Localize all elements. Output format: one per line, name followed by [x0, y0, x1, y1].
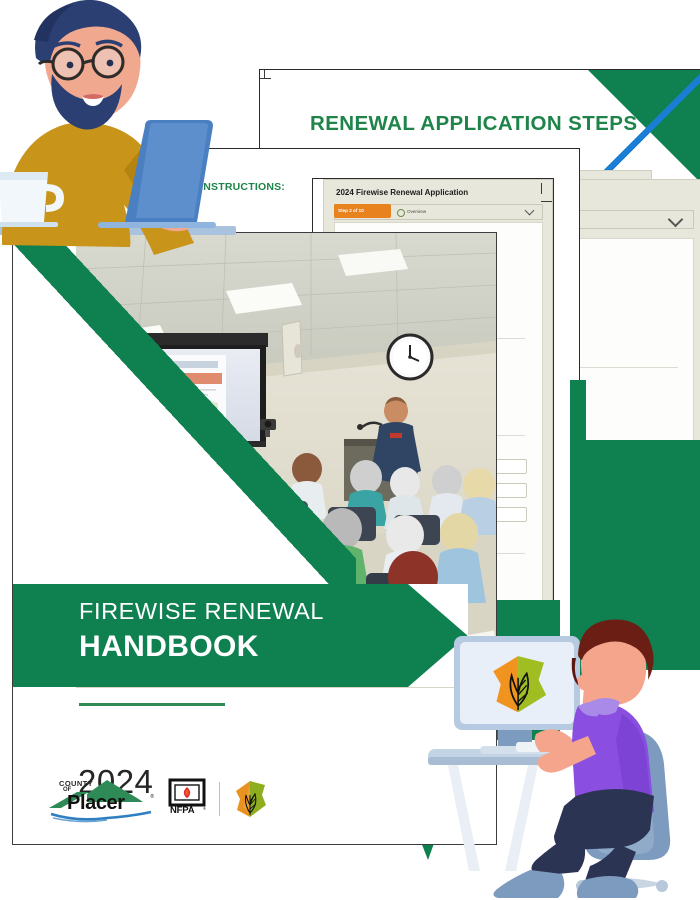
check-circle-icon [397, 209, 405, 217]
handbook-cover-page: 2024 FIREWISE RENEWAL HANDBOOK COUNTY OF [12, 232, 497, 845]
firewise-leaf-logo [234, 779, 268, 819]
registered-mark: ® [203, 806, 206, 811]
form-title: 2024 Firewise Renewal Application [336, 188, 468, 197]
step-badge-label: Step 2 of 10 [338, 208, 364, 213]
chevron-down-icon [525, 206, 535, 216]
cover-logo-row: COUNTY OF Placer ® NFPA ® [47, 778, 268, 820]
page-title: RENEWAL APPLICATION STEPS [310, 112, 637, 136]
cover-title: HANDBOOK [79, 630, 259, 664]
county-of-placer-logo: COUNTY OF Placer ® [47, 778, 155, 820]
registered-mark: ® [150, 794, 154, 800]
logo-divider [219, 782, 220, 816]
man-at-laptop-illustration [0, 0, 290, 250]
screenshot-canvas: RENEWAL APPLICATION STEPS 2024 Firewise … [0, 0, 700, 900]
step-badge: Step 2 of 10 [334, 204, 391, 218]
cover-green-diagonal [12, 232, 356, 603]
cover-divider-rule [79, 703, 225, 706]
step-selector[interactable]: Step 2 of 10 Overview [334, 204, 543, 220]
nfpa-logo: NFPA ® [169, 779, 205, 819]
cover-title-band: FIREWISE RENEWAL HANDBOOK [13, 584, 468, 687]
person-at-desktop-illustration [432, 618, 700, 900]
nfpa-wordmark: NFPA [170, 805, 194, 816]
step-label: Overview [407, 209, 426, 214]
chevron-down-icon [668, 212, 684, 228]
placer-main-word: Placer [67, 792, 125, 815]
cover-subtitle: FIREWISE RENEWAL [79, 598, 324, 625]
